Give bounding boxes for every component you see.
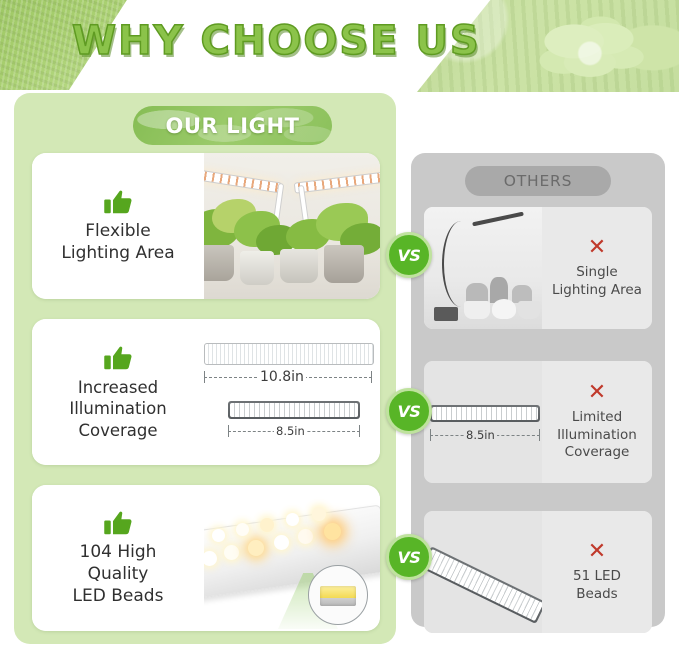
our-row-3-label-line-2: Quality bbox=[88, 564, 149, 586]
led-bead-2 bbox=[224, 545, 239, 560]
led-bar-dimension-diagram: 1.38in 10.8in 8.5in bbox=[182, 319, 380, 465]
our-row-2-label-line-2: Illumination bbox=[69, 398, 166, 419]
others-pill: OTHERS bbox=[465, 166, 611, 196]
our-row-2-text: Increased Illumination Coverage bbox=[32, 319, 204, 465]
other-row-2-card: 8.5in ✕ Limited Illumination Coverage bbox=[424, 361, 652, 483]
our-width-tick-left bbox=[204, 371, 205, 383]
smd-chip-magnified-inset bbox=[308, 565, 368, 625]
led-bead-11 bbox=[312, 507, 326, 521]
competitor-led-bar-diagram: 8.5in bbox=[424, 361, 548, 483]
other-led-bar-shape bbox=[430, 405, 540, 422]
our-light-pill-label: OUR LIGHT bbox=[165, 114, 299, 138]
competitor-bar-beads bbox=[230, 403, 358, 417]
other-row-3-label-line-1: 51 LED bbox=[573, 568, 621, 586]
led-bead-3 bbox=[248, 540, 264, 556]
other-row-2-dim-label: 8.5in bbox=[464, 428, 497, 442]
led-bead-1 bbox=[202, 551, 217, 566]
led-bead-8 bbox=[236, 523, 249, 536]
dual-arm-grow-light-over-plants-photo bbox=[190, 153, 380, 299]
other-row-2-tick-right bbox=[539, 429, 540, 441]
led-bead-5 bbox=[298, 529, 313, 544]
led-bead-10 bbox=[286, 513, 299, 526]
our-row-1-label-line-1: Flexible bbox=[85, 221, 150, 243]
our-row-1-text: Flexible Lighting Area bbox=[32, 153, 204, 299]
vs-badge-row-2: VS bbox=[386, 388, 432, 434]
other-row-3-text: ✕ 51 LED Beads bbox=[542, 511, 652, 633]
white-pot-2 bbox=[492, 299, 516, 319]
competitor-led-bar-shape bbox=[228, 401, 360, 419]
other-width-tick-right bbox=[359, 425, 360, 437]
clip-lamp-bar bbox=[472, 212, 524, 227]
vs-badge-label: VS bbox=[398, 548, 421, 567]
vs-badge-row-1: VS bbox=[386, 232, 432, 278]
other-row-3-card: ✕ 51 LED Beads bbox=[424, 511, 652, 633]
our-width-dim-label: 10.8in bbox=[258, 369, 306, 385]
plant-pot-4 bbox=[324, 245, 364, 283]
clip-lamp-clamp bbox=[434, 307, 458, 321]
our-row-3-card: 104 High Quality LED Beads bbox=[32, 485, 380, 631]
other-width-dim-label: 8.5in bbox=[274, 424, 307, 438]
led-beads-closeup-photo bbox=[182, 485, 380, 631]
others-pill-label: OTHERS bbox=[504, 172, 573, 190]
other-row-3-label-line-2: Beads bbox=[576, 586, 617, 604]
led-closeup-image bbox=[182, 485, 380, 631]
other-row-2-tick-left bbox=[430, 429, 431, 441]
header-banner: WHY CHOOSE US bbox=[0, 0, 679, 92]
our-row-2-card: Increased Illumination Coverage 1.38in bbox=[32, 319, 380, 465]
our-row-2-label-line-3: Coverage bbox=[78, 420, 157, 441]
other-row-1-label-line-1: Single bbox=[576, 264, 618, 282]
other-row-1-label-line-2: Lighting Area bbox=[552, 282, 642, 300]
smd-chip-shape bbox=[320, 586, 356, 606]
clip-lamp-image bbox=[424, 207, 542, 329]
our-row-2-label-line-1: Increased bbox=[78, 377, 158, 398]
thumbs-up-icon bbox=[103, 187, 133, 217]
plant-pot-3 bbox=[280, 249, 318, 283]
plant-pot-2 bbox=[240, 251, 274, 285]
others-panel: OTHERS ✕ Single Lighti bbox=[411, 153, 665, 627]
our-light-panel: OUR LIGHT Flexible Lighting Area bbox=[14, 93, 396, 644]
other-row-2-label-line-2: Illumination bbox=[557, 427, 637, 445]
our-led-bar-shape bbox=[204, 343, 374, 365]
our-row-1-label-line-2: Lighting Area bbox=[61, 243, 174, 265]
x-mark-icon: ✕ bbox=[588, 541, 606, 563]
cactus-1 bbox=[466, 283, 488, 303]
our-row-3-text: 104 High Quality LED Beads bbox=[32, 485, 204, 631]
vs-badge-label: VS bbox=[398, 246, 421, 265]
vs-badge-row-3: VS bbox=[386, 534, 432, 580]
other-row-1-card: ✕ Single Lighting Area bbox=[424, 207, 652, 329]
other-row-1-text: ✕ Single Lighting Area bbox=[542, 207, 652, 329]
competitor-led-bar-photo bbox=[424, 511, 548, 633]
infographic-page: WHY CHOOSE US OUR LIGHT Flexible Lightin… bbox=[0, 0, 679, 662]
led-bead-9 bbox=[260, 518, 274, 532]
vs-badge-label: VS bbox=[398, 402, 421, 421]
led-bead-6 bbox=[324, 523, 341, 540]
angled-bar-beads bbox=[424, 549, 544, 621]
white-pot-3 bbox=[518, 301, 540, 319]
other-bar-beads bbox=[432, 407, 538, 420]
dimension-diagram-canvas: 1.38in 10.8in 8.5in bbox=[182, 319, 380, 465]
our-row-1-card: Flexible Lighting Area bbox=[32, 153, 380, 299]
plants-photo-image bbox=[190, 153, 380, 299]
page-title: WHY CHOOSE US bbox=[72, 18, 481, 64]
x-mark-icon: ✕ bbox=[588, 382, 606, 404]
other-row-2-label-line-3: Coverage bbox=[565, 444, 630, 462]
other-width-tick-left bbox=[228, 425, 229, 437]
x-mark-icon: ✕ bbox=[588, 237, 606, 259]
our-light-pill: OUR LIGHT bbox=[133, 106, 332, 145]
led-bead-7 bbox=[212, 529, 225, 542]
single-arm-clip-lamp-photo bbox=[424, 207, 542, 329]
grow-light-bar-right bbox=[294, 171, 380, 193]
thumbs-up-icon bbox=[103, 508, 133, 538]
angled-led-bar-shape bbox=[424, 546, 546, 624]
white-pot-1 bbox=[464, 301, 490, 319]
other-row-2-text: ✕ Limited Illumination Coverage bbox=[542, 361, 652, 483]
our-row-3-label-line-1: 104 High bbox=[80, 542, 157, 564]
other-row-2-label-line-1: Limited bbox=[572, 409, 622, 427]
thumbs-up-icon bbox=[103, 343, 133, 373]
led-bead-4 bbox=[274, 535, 289, 550]
our-row-3-label-line-3: LED Beads bbox=[73, 586, 164, 608]
our-width-tick-right bbox=[371, 371, 372, 383]
